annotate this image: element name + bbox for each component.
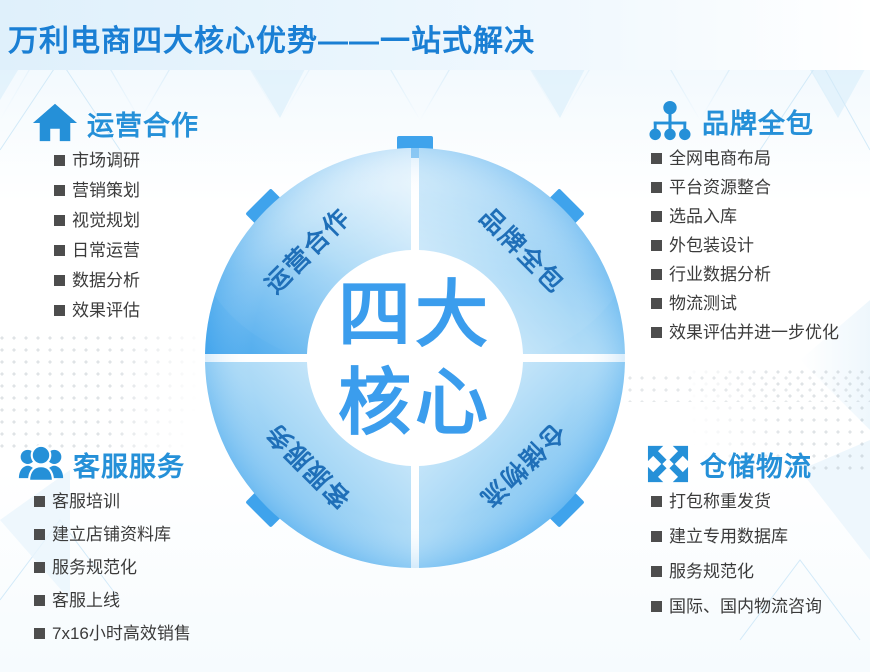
bullet-square-icon <box>651 182 662 193</box>
page-title: 万利电商四大核心优势——一站式解决 <box>8 16 535 60</box>
list-item: 国际、国内物流咨询 <box>651 598 870 615</box>
list-item: 行业数据分析 <box>651 266 870 283</box>
quadrant-logistics-list: 打包称重发货 建立专用数据库 服务规范化 国际、国内物流咨询 <box>645 493 870 615</box>
bullet-square-icon <box>651 269 662 280</box>
list-item: 物流测试 <box>651 295 870 312</box>
list-item-label: 效果评估 <box>72 302 140 319</box>
list-item: 外包装设计 <box>651 237 870 254</box>
bullet-square-icon <box>54 185 65 196</box>
list-item-label: 全网电商布局 <box>669 150 771 167</box>
home-icon <box>32 102 78 144</box>
bullet-square-icon <box>54 155 65 166</box>
bullet-square-icon <box>34 529 45 540</box>
list-item: 服务规范化 <box>651 563 870 580</box>
quadrant-brand-list: 全网电商布局 平台资源整合 选品入库 外包装设计 行业数据分析 物流测试 效果评… <box>645 150 870 341</box>
bullet-square-icon <box>34 496 45 507</box>
quadrant-logistics-header: 仓储物流 <box>645 443 870 485</box>
list-item-label: 日常运营 <box>72 242 140 259</box>
list-item: 效果评估并进一步优化 <box>651 324 870 341</box>
list-item: 客服上线 <box>34 592 266 609</box>
bullet-square-icon <box>54 245 65 256</box>
bullet-square-icon <box>651 211 662 222</box>
quadrant-service-title: 客服服务 <box>73 445 185 484</box>
list-item-label: 7x16小时高效销售 <box>52 625 191 642</box>
list-item-label: 选品入库 <box>669 208 737 225</box>
list-item-label: 打包称重发货 <box>669 493 771 510</box>
list-item-label: 国际、国内物流咨询 <box>669 598 822 615</box>
bullet-square-icon <box>651 601 662 612</box>
infographic-canvas: 万利电商四大核心优势——一站式解决 运营合作 市场调研 营销策划 视觉规划 日常… <box>0 0 870 672</box>
bullet-square-icon <box>34 628 45 639</box>
list-item-label: 行业数据分析 <box>669 266 771 283</box>
quadrant-logistics: 仓储物流 打包称重发货 建立专用数据库 服务规范化 国际、国内物流咨询 <box>645 443 870 633</box>
list-item-label: 视觉规划 <box>72 212 140 229</box>
bullet-square-icon <box>651 327 662 338</box>
list-item: 选品入库 <box>651 208 870 225</box>
quadrant-brand: 品牌全包 全网电商布局 平台资源整合 选品入库 外包装设计 行业数据分析 物流测… <box>645 100 870 353</box>
list-item-label: 客服上线 <box>52 592 120 609</box>
list-item-label: 建立专用数据库 <box>669 528 788 545</box>
center-text-line2: 核心 <box>338 362 492 443</box>
quadrant-brand-header: 品牌全包 <box>645 100 870 142</box>
list-item-label: 效果评估并进一步优化 <box>669 324 839 341</box>
dot-grid-left <box>0 332 206 452</box>
bullet-square-icon <box>651 496 662 507</box>
expand-arrows-icon <box>645 443 691 485</box>
bullet-square-icon <box>651 153 662 164</box>
list-item: 平台资源整合 <box>651 179 870 196</box>
quadrant-operations-title: 运营合作 <box>87 104 199 143</box>
org-chart-icon <box>647 100 693 142</box>
list-item-label: 营销策划 <box>72 182 140 199</box>
center-text-line1: 四大 <box>338 274 492 355</box>
bullet-square-icon <box>34 595 45 606</box>
list-item-label: 市场调研 <box>72 152 140 169</box>
list-item-label: 数据分析 <box>72 272 140 289</box>
list-item: 全网电商布局 <box>651 150 870 167</box>
list-item-label: 服务规范化 <box>669 563 754 580</box>
list-item: 7x16小时高效销售 <box>34 625 266 642</box>
list-item: 建立专用数据库 <box>651 528 870 545</box>
list-item-label: 服务规范化 <box>52 559 137 576</box>
bullet-square-icon <box>651 566 662 577</box>
bullet-square-icon <box>651 240 662 251</box>
bullet-square-icon <box>34 562 45 573</box>
people-group-icon <box>18 443 64 485</box>
bullet-square-icon <box>651 298 662 309</box>
list-item-label: 建立店铺资料库 <box>52 526 171 543</box>
bullet-square-icon <box>651 531 662 542</box>
bullet-square-icon <box>54 305 65 316</box>
list-item-label: 客服培训 <box>52 493 120 510</box>
quadrant-logistics-title: 仓储物流 <box>700 445 812 484</box>
quadrant-brand-title: 品牌全包 <box>702 102 814 141</box>
list-item: 打包称重发货 <box>651 493 870 510</box>
bullet-square-icon <box>54 275 65 286</box>
list-item-label: 物流测试 <box>669 295 737 312</box>
core-donut-diagram: 运营合作 品牌全包 仓储物流 客服服务 四大 核心 <box>185 128 645 588</box>
bullet-square-icon <box>54 215 65 226</box>
list-item-label: 平台资源整合 <box>669 179 771 196</box>
list-item-label: 外包装设计 <box>669 237 754 254</box>
